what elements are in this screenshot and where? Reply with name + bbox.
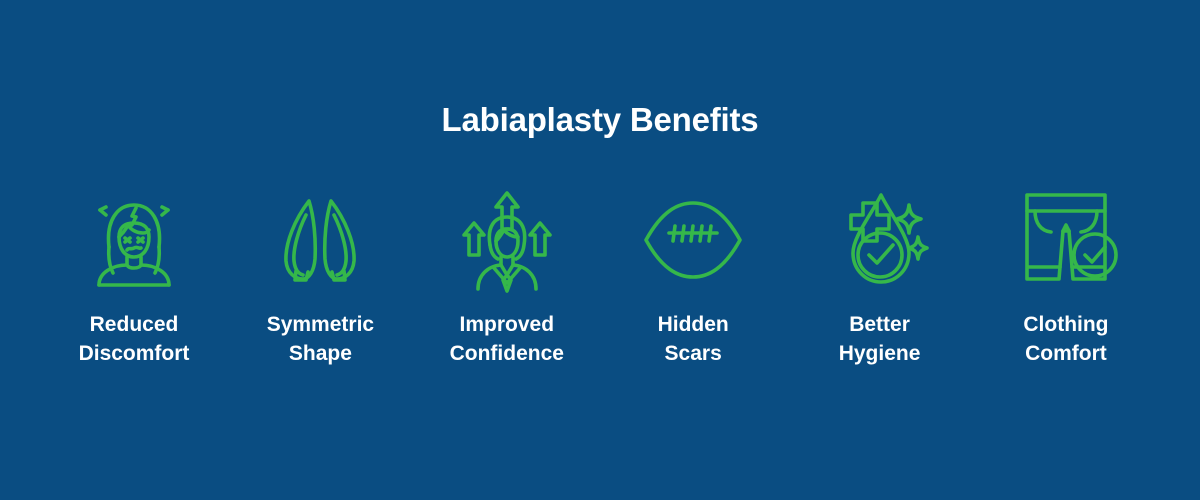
benefit-label: Reduced Discomfort (79, 311, 190, 369)
woman-discomfort-icon (79, 185, 189, 295)
pants-check-icon (1011, 185, 1121, 295)
droplet-cross-check-icon (825, 185, 935, 295)
benefit-label: Better Hygiene (839, 311, 921, 369)
person-arrows-up-icon (452, 185, 562, 295)
benefits-row: Reduced Discomfort (41, 185, 1159, 369)
sutured-incision-icon (638, 185, 748, 295)
benefit-label: Clothing Comfort (1023, 311, 1108, 369)
benefit-label: Symmetric Shape (267, 311, 374, 369)
infographic-canvas: Labiaplasty Benefits (0, 0, 1200, 500)
symmetric-petals-icon (265, 185, 375, 295)
benefit-item-symmetric-shape: Symmetric Shape (227, 185, 413, 369)
benefit-item-clothing-comfort: Clothing Comfort (973, 185, 1159, 369)
benefit-item-hidden-scars: Hidden Scars (600, 185, 786, 369)
benefit-label: Improved Confidence (450, 311, 564, 369)
benefit-item-improved-confidence: Improved Confidence (414, 185, 600, 369)
benefit-label: Hidden Scars (658, 311, 729, 369)
page-title: Labiaplasty Benefits (0, 102, 1200, 138)
benefit-item-reduced-discomfort: Reduced Discomfort (41, 185, 227, 369)
benefit-item-better-hygiene: Better Hygiene (787, 185, 973, 369)
